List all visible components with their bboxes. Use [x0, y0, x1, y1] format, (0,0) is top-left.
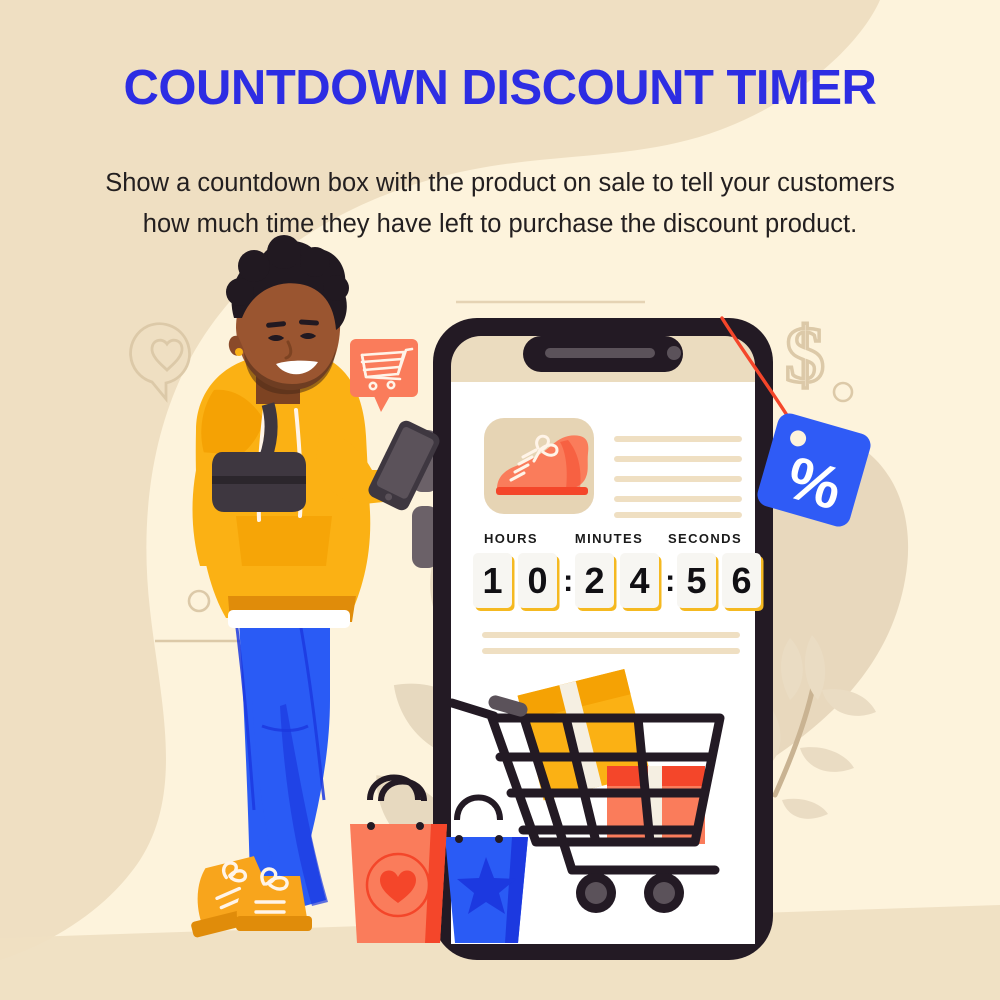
cart-bubble-tail	[374, 396, 390, 412]
page-subtitle: Show a countdown box with the product on…	[90, 163, 910, 245]
subtitle-line-1: Show a countdown box with the product on…	[105, 169, 895, 197]
phone-camera-icon	[667, 346, 681, 360]
cart-wheel-right-hub	[653, 882, 675, 904]
character-pouch-zip	[212, 476, 306, 484]
countdown-label-hours: HOURS	[466, 531, 556, 546]
promo-banner: $	[0, 0, 1000, 1000]
countdown-seconds-digit-1: 5	[677, 553, 716, 608]
countdown-separator-1: :	[563, 553, 573, 608]
countdown-label-minutes: MINUTES	[559, 531, 659, 546]
countdown-seconds-digit-2: 6	[722, 553, 761, 608]
cart-wheel-left-hub	[585, 882, 607, 904]
page-title: COUNTDOWN DISCOUNT TIMER	[0, 60, 1000, 116]
illustration-layer: %	[0, 0, 1000, 1000]
character-shirt-hem	[228, 610, 350, 628]
countdown-hours-digit-2: 0	[518, 553, 557, 608]
character-hoodie-pocket	[236, 516, 332, 566]
countdown-minutes-digit-2: 4	[620, 553, 659, 608]
countdown-hours-digit-1: 1	[473, 553, 512, 608]
cart-bubble	[350, 339, 418, 412]
character-earring	[235, 348, 243, 356]
countdown-minutes-digit-1: 2	[575, 553, 614, 608]
countdown-separator-2: :	[665, 553, 675, 608]
subtitle-line-2: how much time they have left to purchase…	[143, 210, 857, 238]
phone-speaker	[545, 348, 655, 358]
shopping-bag-coral	[350, 778, 447, 944]
countdown-label-seconds: SECONDS	[655, 531, 755, 546]
